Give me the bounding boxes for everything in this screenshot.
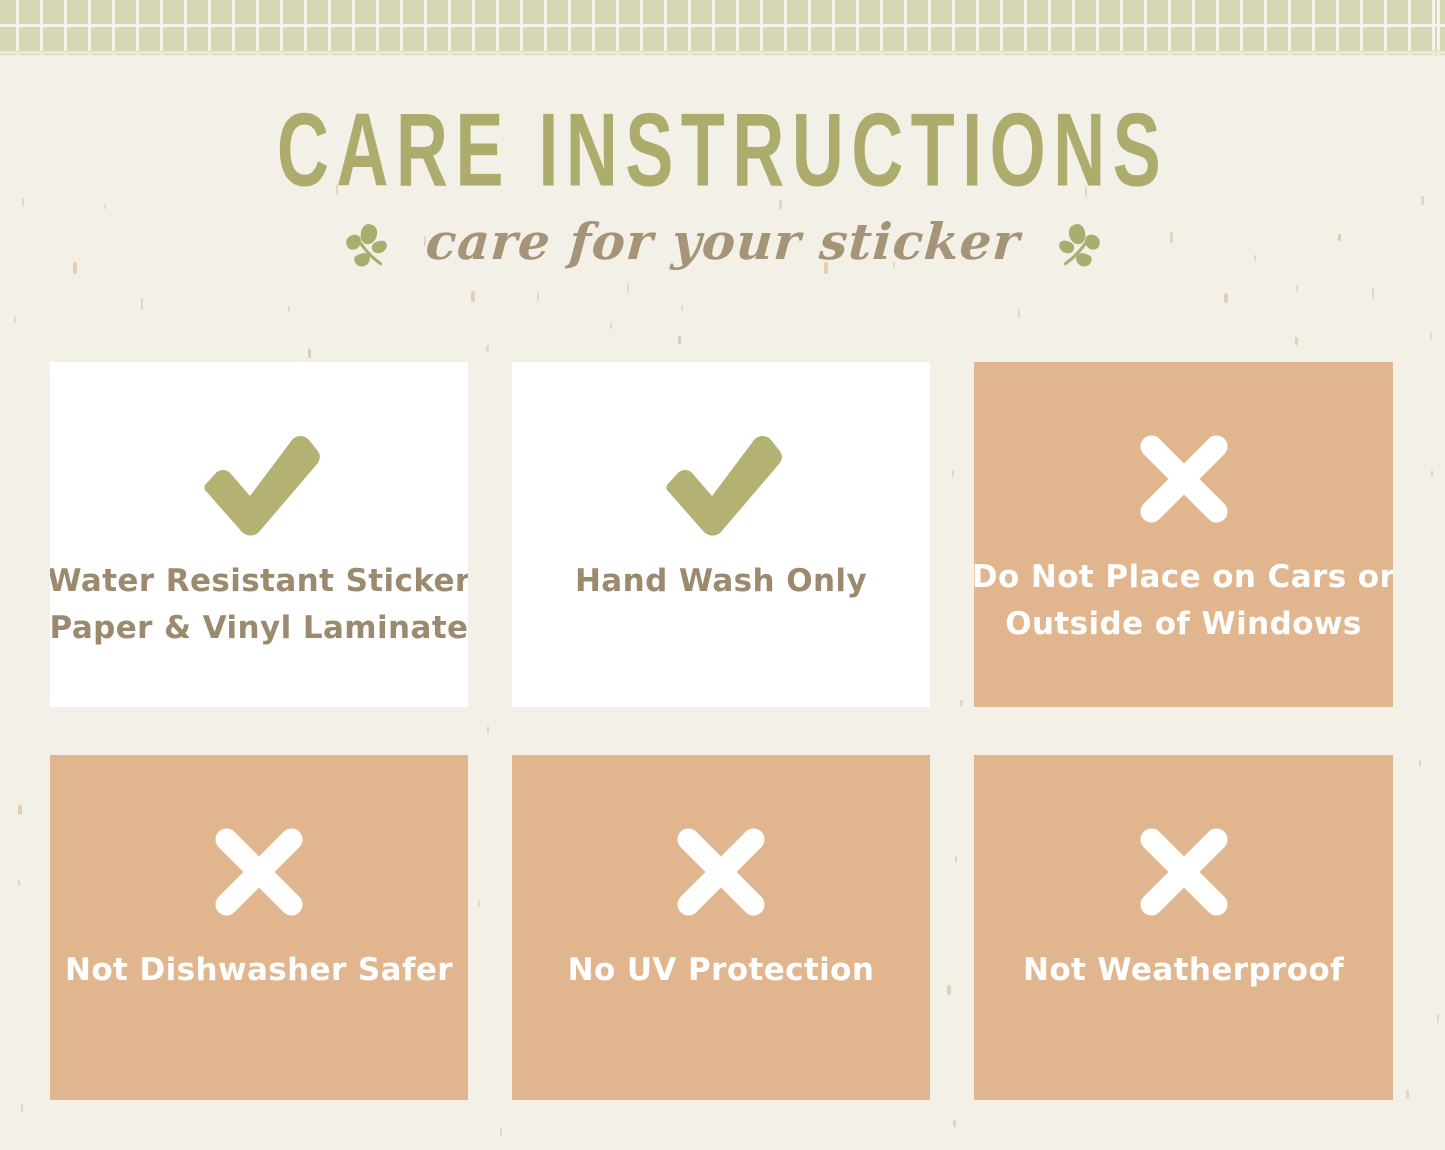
page-header: CARE INSTRUCTIONS care for your sticker [0,96,1445,270]
care-card-not-weatherproof: Not Weatherproof [974,755,1393,1100]
subtitle-row: care for your sticker [0,214,1445,270]
care-card-label-line: No UV Protection [568,947,875,994]
care-card-label: Not Weatherproof [1005,947,1362,994]
care-card-not-dishwasher-safer: Not Dishwasher Safer [50,755,468,1100]
page-subtitle: care for your sticker [424,214,1022,270]
care-card-label-line: Water Resistant Sticker [50,558,468,605]
care-card-label-line: Do Not Place on Cars or [974,554,1393,601]
care-card-water-resistant: Water Resistant StickerPaper & Vinyl Lam… [50,362,468,707]
leaf-sprig-icon [338,214,390,270]
care-card-label: Hand Wash Only [557,558,885,605]
leaf-sprig-icon [1056,214,1108,270]
cross-icon [205,813,313,931]
care-card-label: Water Resistant StickerPaper & Vinyl Lam… [50,558,468,652]
top-grid-banner [0,0,1445,55]
banner-fade [0,50,1445,57]
care-card-label-line: Outside of Windows [974,601,1393,648]
care-card-label-line: Not Weatherproof [1023,947,1344,994]
care-instructions-page: CARE INSTRUCTIONS care for your sticker [0,0,1445,1150]
page-title: CARE INSTRUCTIONS [130,96,1315,205]
care-card-label: Not Dishwasher Safer [50,947,468,994]
check-icon [193,424,325,542]
care-card-label-line: Paper & Vinyl Laminate [50,605,468,652]
care-card-label-line: Not Dishwasher Safer [65,947,453,994]
care-card-label: No UV Protection [550,947,893,994]
care-card-label-line: Hand Wash Only [575,558,867,605]
care-card-no-cars-or-outside-windows: Do Not Place on Cars orOutside of Window… [974,362,1393,707]
cross-icon [667,813,775,931]
care-instruction-card-grid: Water Resistant StickerPaper & Vinyl Lam… [50,362,1396,1100]
care-card-no-uv-protection: No UV Protection [512,755,930,1100]
care-card-hand-wash-only: Hand Wash Only [512,362,930,707]
care-card-label: Do Not Place on Cars orOutside of Window… [974,554,1393,648]
check-icon [655,424,787,542]
cross-icon [1130,813,1238,931]
cross-icon [1130,420,1238,538]
